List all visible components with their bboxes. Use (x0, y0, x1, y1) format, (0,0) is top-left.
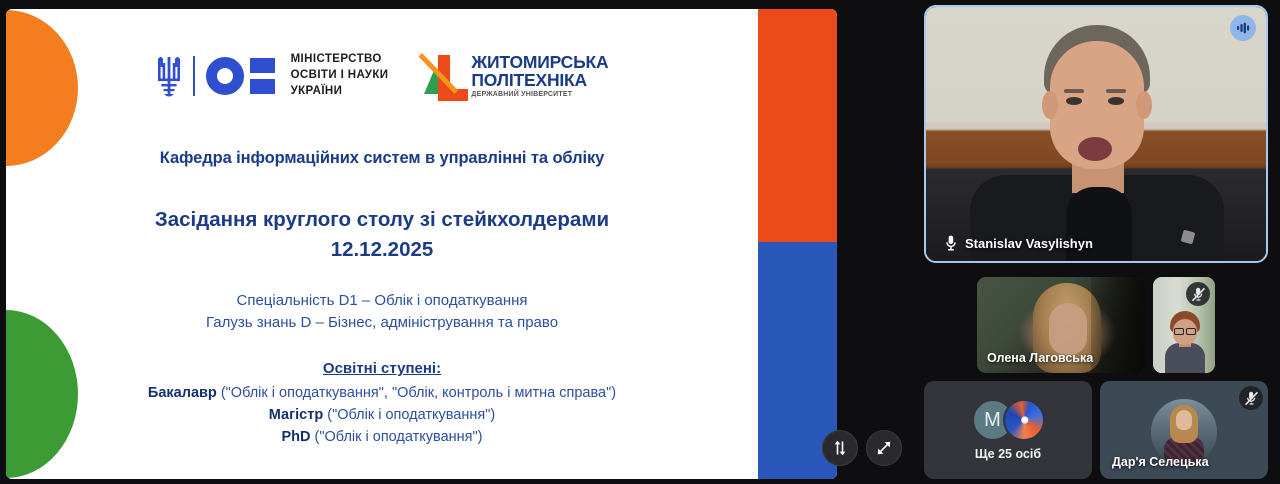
slide-text-body: Кафедра інформаційних систем в управлінн… (6, 9, 758, 479)
slide-knowledge-field: Галузь знань D – Бізнес, адміністрування… (6, 312, 758, 334)
participant-label: Олена Лаговська (987, 351, 1093, 365)
main-speaker-video (926, 7, 1266, 261)
slide-level-row: Магістр ("Облік і оподаткування") (6, 404, 758, 426)
level-programs: ("Облік і оподаткування") (327, 407, 495, 423)
microphone-icon (944, 235, 958, 251)
decorative-right-bar (758, 9, 837, 479)
participant-tile-main-speaker[interactable]: Stanislav Vasylishyn (924, 5, 1268, 263)
slide-levels-heading: Освітні ступені: (6, 360, 758, 377)
slide-department-line: Кафедра інформаційних систем в управлінн… (6, 149, 758, 168)
slide-level-row: Бакалавр ("Облік і оподаткування", "Облі… (6, 382, 758, 404)
video-call-window: МІНІСТЕРСТВО ОСВІТИ І НАУКИ УКРАЇНИ ЖИТО… (0, 0, 1280, 484)
swap-views-button[interactable] (822, 430, 858, 466)
presentation-slide: МІНІСТЕРСТВО ОСВІТИ І НАУКИ УКРАЇНИ ЖИТО… (6, 9, 837, 479)
microphone-muted-icon (1191, 287, 1206, 302)
audio-waveform-icon (1230, 15, 1256, 41)
slide-event-date: 12.12.2025 (6, 235, 758, 265)
participant-tile-overflow[interactable]: M Ще 25 осіб (924, 381, 1092, 479)
swap-vertical-arrows-icon (831, 439, 849, 457)
participants-filmstrip: Stanislav Vasylishyn Олена Лаговська (912, 0, 1280, 484)
fullscreen-button[interactable] (866, 430, 902, 466)
level-degree: Магістр (269, 407, 323, 423)
mic-muted-badge (1186, 282, 1210, 306)
stage-controls (822, 427, 906, 469)
level-programs: ("Облік і оподаткування") (315, 429, 483, 445)
slide-specialty-block: Спеціальність D1 – Облік і оподаткування… (6, 290, 758, 334)
main-speaker-label: Stanislav Vasylishyn (944, 235, 1093, 251)
participant-label: Дар'я Селецька (1112, 455, 1209, 469)
mic-muted-badge (1239, 386, 1263, 410)
overflow-avatars: M (972, 399, 1045, 441)
participant-figure (1165, 311, 1205, 373)
avatar-swirl-image (1003, 399, 1045, 441)
participant-name: Олена Лаговська (987, 351, 1093, 365)
overflow-count-label: Ще 25 осіб (975, 447, 1041, 461)
microphone-muted-icon (1244, 391, 1259, 406)
participant-tile-olena[interactable]: Олена Лаговська (977, 277, 1145, 373)
participants-row-middle: Олена Лаговська (924, 277, 1268, 373)
level-degree: PhD (282, 429, 311, 445)
level-degree: Бакалавр (148, 385, 217, 401)
participant-name: Stanislav Vasylishyn (965, 236, 1093, 251)
waveform-bars-icon (1235, 20, 1251, 36)
participants-row-bottom: M Ще 25 осіб (924, 381, 1268, 479)
main-speaker-figure (1022, 25, 1172, 263)
slide-specialty: Спеціальність D1 – Облік і оподаткування (6, 290, 758, 312)
shared-screen-stage: МІНІСТЕРСТВО ОСВІТИ І НАУКИ УКРАЇНИ ЖИТО… (0, 0, 912, 484)
bar-red-segment (758, 9, 837, 242)
participant-tile-muted-glasses[interactable] (1153, 277, 1215, 373)
expand-diagonal-arrows-icon (875, 439, 893, 457)
slide-levels-list: Бакалавр ("Облік і оподаткування", "Облі… (6, 382, 758, 449)
slide-event-title: Засідання круглого столу зі стейкхолдера… (6, 205, 758, 235)
participant-name: Дар'я Селецька (1112, 455, 1209, 469)
slide-level-row: PhD ("Облік і оподаткування") (6, 426, 758, 448)
level-programs: ("Облік і оподаткування", "Облік, контро… (221, 385, 616, 401)
slide-event-block: Засідання круглого столу зі стейкхолдера… (6, 205, 758, 264)
participant-tile-darya[interactable]: Дар'я Селецька (1100, 381, 1268, 479)
